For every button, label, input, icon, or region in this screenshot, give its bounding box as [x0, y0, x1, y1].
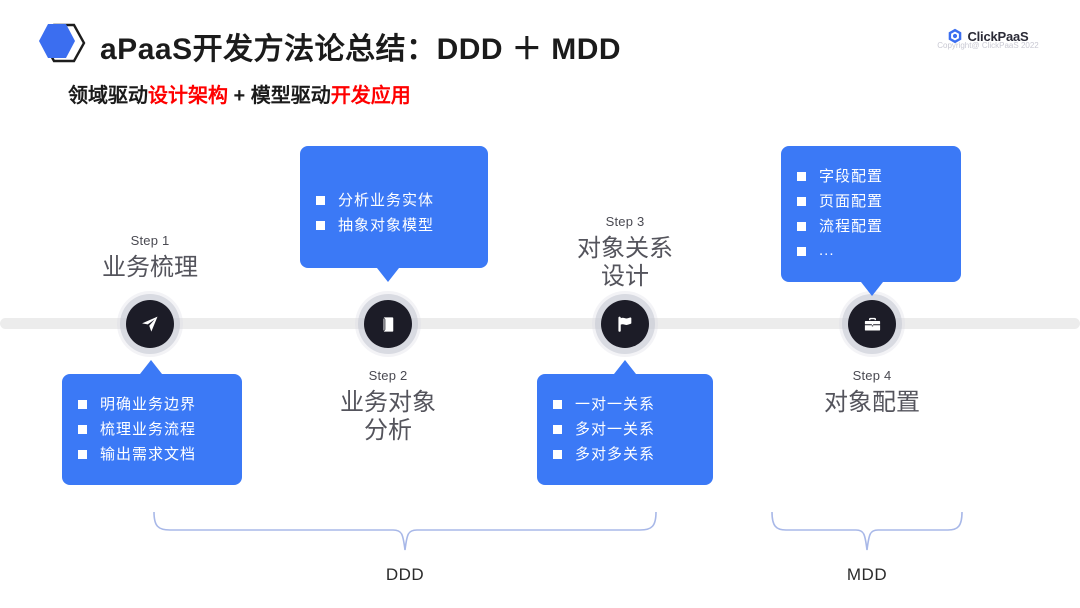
subtitle-part-1: 领域驱动 [68, 85, 148, 107]
brace-label-ddd: DDD [305, 565, 505, 585]
step-name-4: 对象配置 [772, 389, 972, 417]
callout-item-text: 多对多关系 [575, 447, 655, 463]
subtitle-highlight-2: 开发应用 [331, 85, 411, 107]
callout-item: 页面配置 [797, 194, 945, 210]
callout-item-text: 明确业务边界 [100, 397, 196, 413]
callout-step-3: 一对一关系 多对一关系 多对多关系 [537, 374, 713, 485]
timeline-node-4[interactable] [848, 300, 896, 348]
callout-item: 流程配置 [797, 219, 945, 235]
callout-list-1: 明确业务边界 梳理业务流程 输出需求文档 [78, 397, 226, 462]
brace-label-mdd: MDD [767, 565, 967, 585]
callout-list-3: 一对一关系 多对一关系 多对多关系 [553, 397, 697, 462]
callout-list-4: 字段配置 页面配置 流程配置 ... [797, 169, 945, 259]
brand-logo: ClickPaaS Copyright@ ClickPaaS 2022 [928, 28, 1048, 50]
callout-item-text: ... [819, 243, 835, 259]
timeline-node-3[interactable] [601, 300, 649, 348]
callout-item: 输出需求文档 [78, 447, 226, 463]
step-number-4: Step 4 [772, 368, 972, 383]
callout-item-text: 输出需求文档 [100, 447, 196, 463]
callout-item-text: 字段配置 [819, 169, 883, 185]
callout-step-1: 明确业务边界 梳理业务流程 输出需求文档 [62, 374, 242, 485]
briefcase-icon [863, 315, 882, 334]
bullet-square-icon [797, 172, 806, 181]
callout-tail-3 [614, 360, 636, 374]
callout-item: 多对一关系 [553, 422, 697, 438]
callout-item-text: 梳理业务流程 [100, 422, 196, 438]
subtitle-highlight-1: 设计架构 [148, 85, 228, 107]
callout-item-text: 抽象对象模型 [338, 218, 434, 234]
step-number-2: Step 2 [288, 368, 488, 383]
book-icon [379, 315, 398, 334]
bullet-square-icon [316, 221, 325, 230]
brace-mdd [768, 512, 968, 557]
page-subtitle: 领域驱动设计架构 + 模型驱动开发应用 [68, 79, 411, 108]
bullet-square-icon [553, 425, 562, 434]
callout-list-2: 分析业务实体 抽象对象模型 [316, 193, 472, 234]
step-label-1: Step 1 业务梳理 [50, 233, 250, 282]
callout-item: 多对多关系 [553, 447, 697, 463]
paper-plane-icon [140, 314, 160, 334]
bullet-square-icon [316, 196, 325, 205]
callout-item: 字段配置 [797, 169, 945, 185]
step-label-2: Step 2 业务对象 分析 [288, 368, 488, 444]
timeline-node-1[interactable] [126, 300, 174, 348]
brace-ddd [150, 512, 660, 557]
step-name-3: 对象关系 设计 [525, 235, 725, 290]
bullet-square-icon [78, 400, 87, 409]
bullet-square-icon [797, 222, 806, 231]
callout-tail-2 [377, 268, 399, 282]
hexagon-logo-icon [36, 22, 92, 64]
step-number-3: Step 3 [525, 214, 725, 229]
callout-tail-1 [140, 360, 162, 374]
subtitle-part-2: + 模型驱动 [228, 85, 331, 107]
callout-tail-4 [861, 282, 883, 296]
callout-item-text: 一对一关系 [575, 397, 655, 413]
callout-item: 梳理业务流程 [78, 422, 226, 438]
bullet-square-icon [78, 450, 87, 459]
flag-icon [615, 314, 635, 334]
callout-item-text: 流程配置 [819, 219, 883, 235]
callout-item: 分析业务实体 [316, 193, 472, 209]
callout-item-text: 页面配置 [819, 194, 883, 210]
bullet-square-icon [797, 197, 806, 206]
step-label-3: Step 3 对象关系 设计 [525, 214, 725, 290]
callout-item: 一对一关系 [553, 397, 697, 413]
bullet-square-icon [797, 247, 806, 256]
callout-item: ... [797, 243, 945, 259]
callout-item: 明确业务边界 [78, 397, 226, 413]
slide-canvas: aPaaS开发方法论总结：DDD ＋ MDD 领域驱动设计架构 + 模型驱动开发… [0, 0, 1080, 608]
step-label-4: Step 4 对象配置 [772, 368, 972, 417]
bullet-square-icon [553, 450, 562, 459]
callout-item-text: 多对一关系 [575, 422, 655, 438]
callout-step-2: 分析业务实体 抽象对象模型 [300, 146, 488, 268]
callout-step-4: 字段配置 页面配置 流程配置 ... [781, 146, 961, 282]
step-number-1: Step 1 [50, 233, 250, 248]
callout-item-text: 分析业务实体 [338, 193, 434, 209]
timeline-node-2[interactable] [364, 300, 412, 348]
bullet-square-icon [78, 425, 87, 434]
bullet-square-icon [553, 400, 562, 409]
step-name-2: 业务对象 分析 [288, 389, 488, 444]
callout-item: 抽象对象模型 [316, 218, 472, 234]
step-name-1: 业务梳理 [50, 254, 250, 282]
page-title: aPaaS开发方法论总结：DDD ＋ MDD [100, 24, 621, 68]
brand-copyright: Copyright@ ClickPaaS 2022 [928, 41, 1048, 50]
